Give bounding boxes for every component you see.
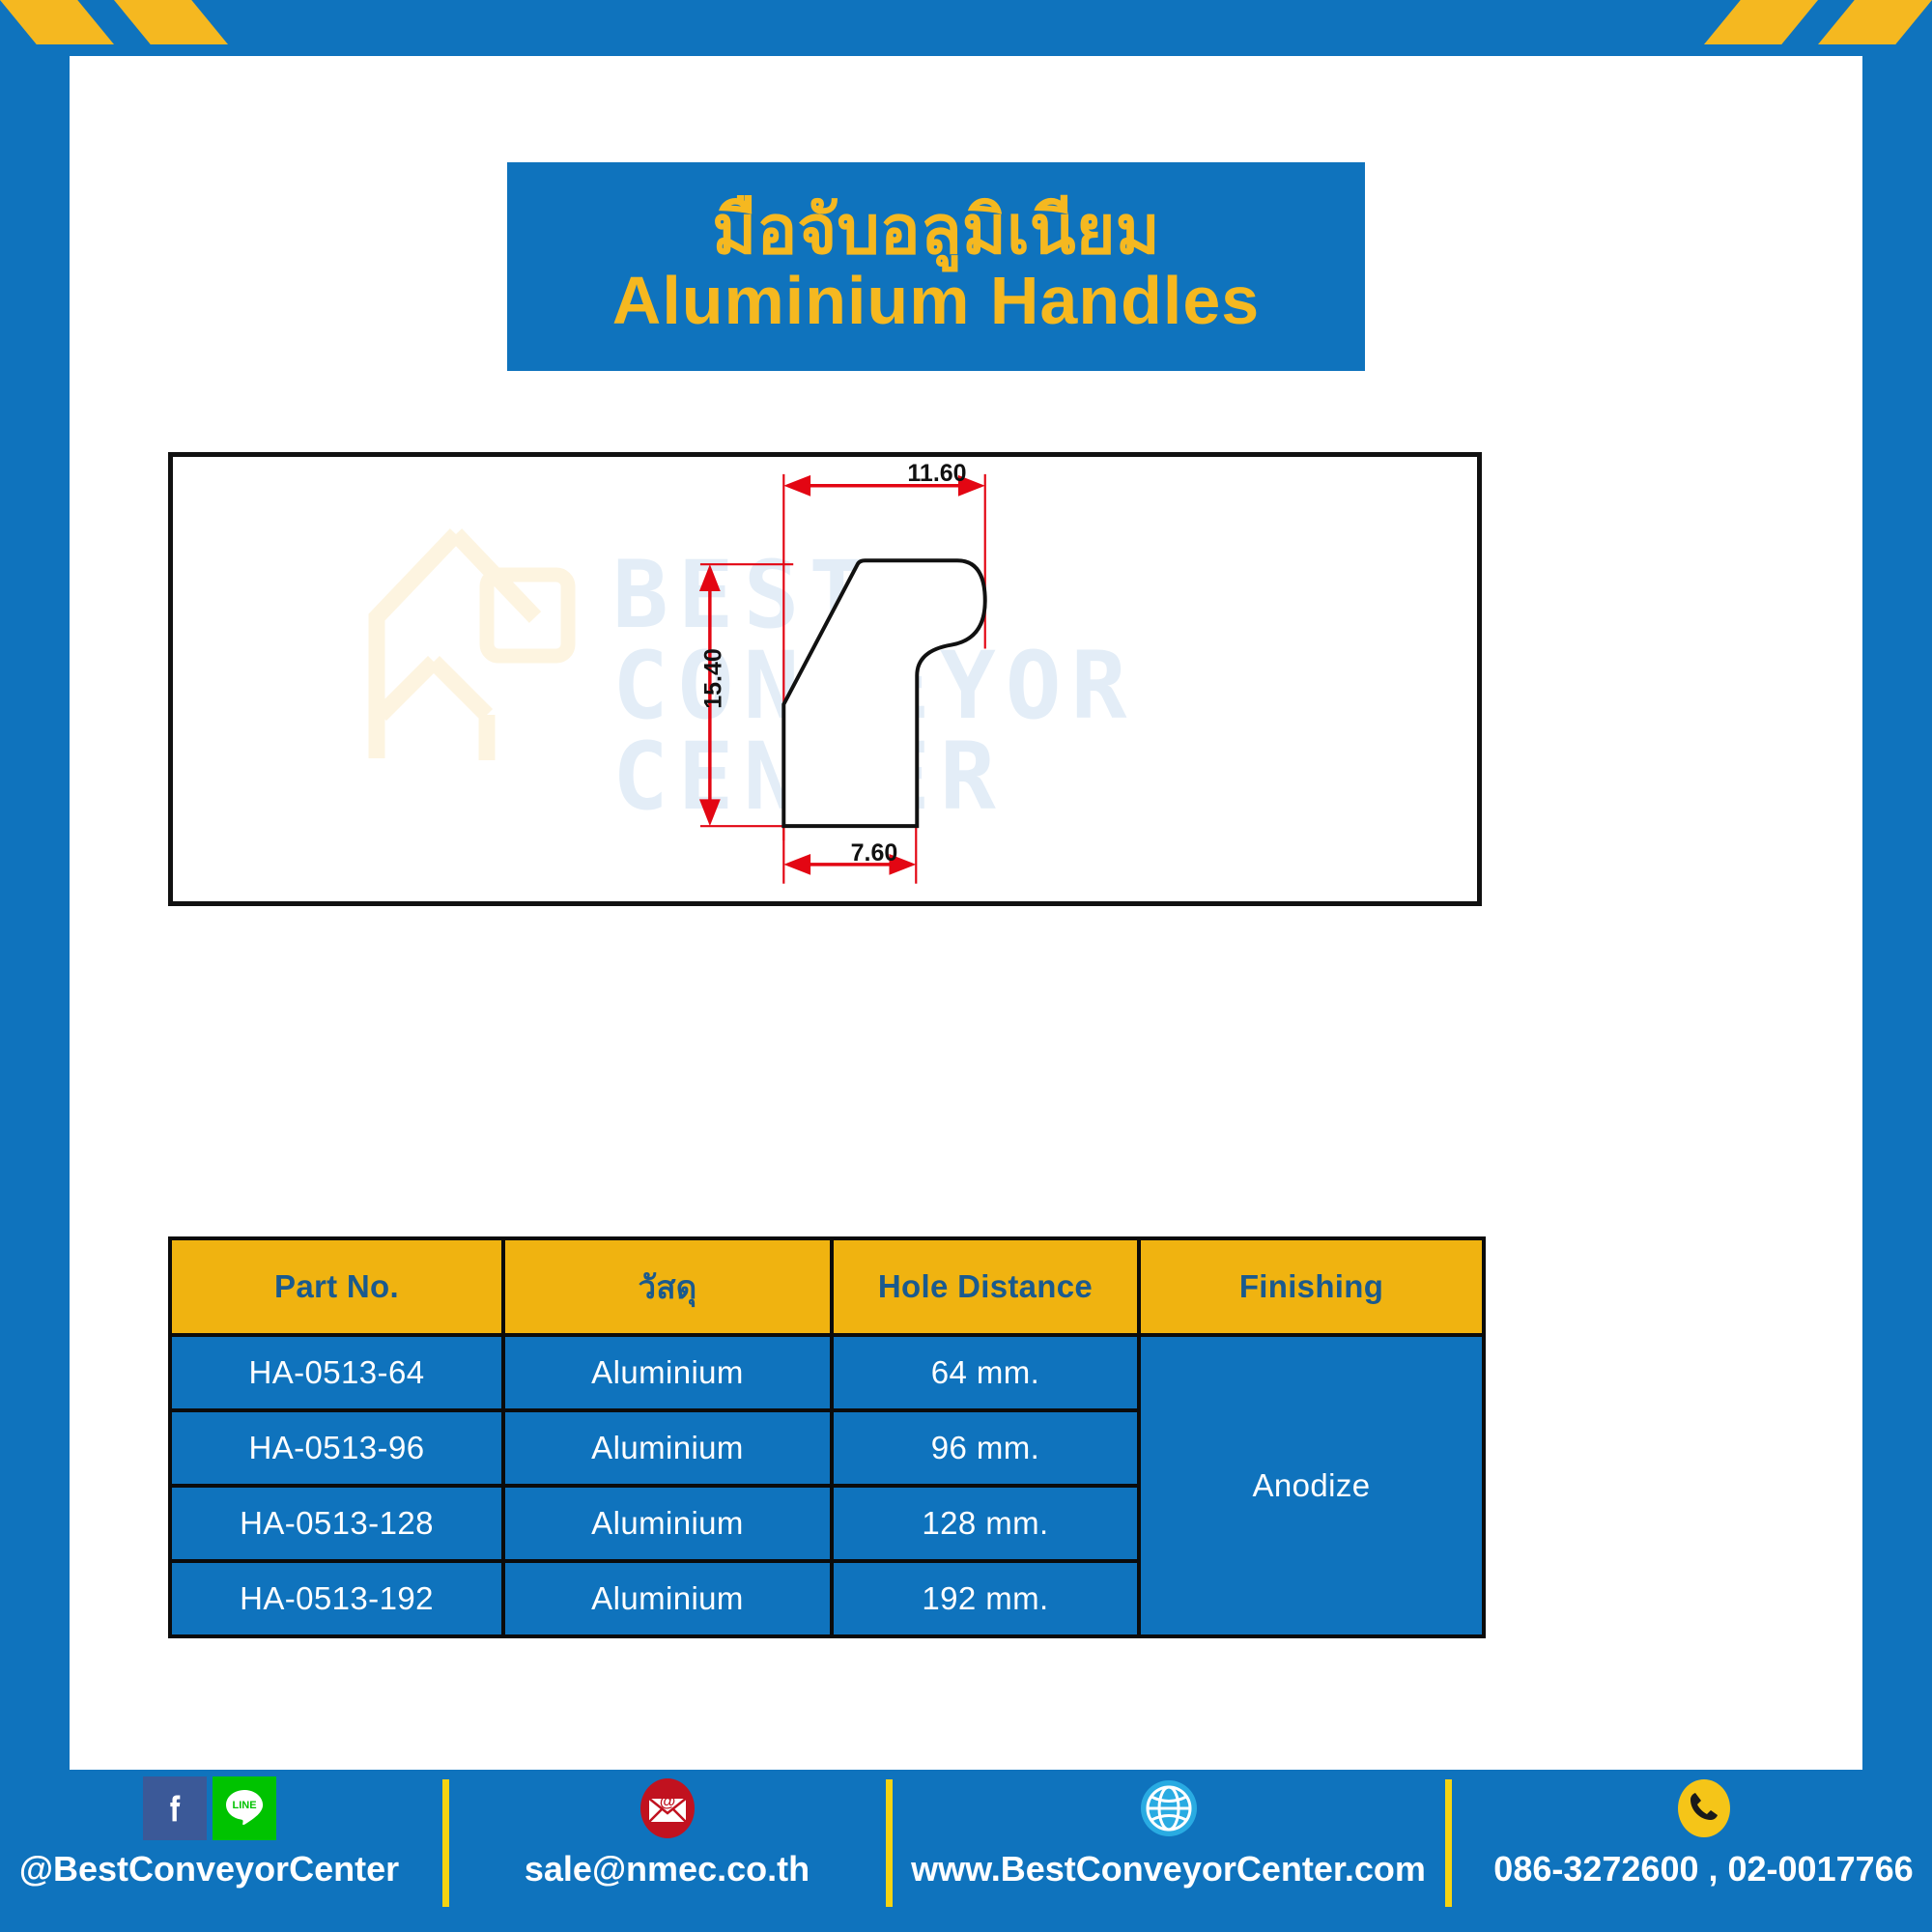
dim-arrow-left (783, 475, 810, 497)
footer-divider (442, 1779, 449, 1907)
dim-arrow-up (699, 564, 721, 591)
chevron-shape (0, 0, 114, 44)
phone-icon-wrap (1672, 1774, 1736, 1843)
cell-part-no: HA-0513-64 (170, 1335, 503, 1410)
dimension-label-width: 11.60 (836, 460, 1038, 488)
cell-hole-distance: 96 mm. (832, 1410, 1139, 1486)
contact-social[interactable]: LINE @BestConveyorCenter (2, 1770, 417, 1889)
handle-profile-outline (783, 560, 984, 826)
contact-email[interactable]: @ sale@nmec.co.th (474, 1770, 861, 1889)
cell-part-no: HA-0513-128 (170, 1486, 503, 1561)
social-handle-label: @BestConveyorCenter (19, 1849, 399, 1889)
technical-drawing-panel: BEST CONVEYOR CENTER (168, 452, 1482, 906)
globe-icon[interactable] (1137, 1776, 1201, 1840)
dimension-label-base: 7.60 (802, 839, 947, 867)
title-banner: มือจับอลูมิเนียม Aluminium Handles (507, 162, 1365, 371)
phone-label: 086-3272600 , 02-0017766 (1493, 1849, 1913, 1889)
specification-table: Part No. วัสดุ Hole Distance Finishing H… (168, 1236, 1486, 1638)
phone-icon[interactable] (1672, 1775, 1736, 1842)
facebook-icon[interactable] (143, 1776, 207, 1840)
globe-icon-wrap (1137, 1774, 1201, 1843)
page-root: มือจับอลูมิเนียม Aluminium Handles BEST … (0, 0, 1932, 1932)
cell-hole-distance: 192 mm. (832, 1561, 1139, 1636)
page-title-english: Aluminium Handles (612, 266, 1260, 337)
corner-chevrons-right (1704, 0, 1932, 44)
cell-part-no: HA-0513-96 (170, 1410, 503, 1486)
cell-material: Aluminium (503, 1561, 832, 1636)
footer-divider (1445, 1779, 1452, 1907)
footer-contact-bar: LINE @BestConveyorCenter @ sale@nmec.co.… (0, 1770, 1932, 1932)
line-icon[interactable]: LINE (213, 1776, 276, 1840)
cell-part-no: HA-0513-192 (170, 1561, 503, 1636)
svg-text:LINE: LINE (232, 1800, 256, 1811)
chevron-shape (114, 0, 228, 44)
cell-hole-distance: 128 mm. (832, 1486, 1139, 1561)
page-title-thai: มือจับอลูมิเนียม (712, 196, 1160, 264)
column-header-finishing: Finishing (1139, 1238, 1484, 1335)
contact-website[interactable]: www.BestConveyorCenter.com (918, 1770, 1420, 1889)
column-header-material: วัสดุ (503, 1238, 832, 1335)
column-header-hole-distance: Hole Distance (832, 1238, 1139, 1335)
website-label: www.BestConveyorCenter.com (911, 1849, 1426, 1889)
svg-text:@: @ (659, 1792, 675, 1810)
chevron-shape (1704, 0, 1818, 44)
cell-finishing: Anodize (1139, 1335, 1484, 1636)
cell-material: Aluminium (503, 1486, 832, 1561)
chevron-shape (1818, 0, 1932, 44)
footer-divider (886, 1779, 893, 1907)
contact-phone[interactable]: 086-3272600 , 02-0017766 (1477, 1770, 1931, 1889)
table-header-row: Part No. วัสดุ Hole Distance Finishing (170, 1238, 1484, 1335)
email-icon-wrap: @ (636, 1774, 699, 1843)
table-row: HA-0513-64 Aluminium 64 mm. Anodize (170, 1335, 1484, 1410)
cell-material: Aluminium (503, 1410, 832, 1486)
dimension-label-height: 15.40 (700, 621, 728, 737)
social-icons: LINE (143, 1774, 276, 1843)
email-icon[interactable]: @ (636, 1775, 699, 1842)
corner-chevrons-left (0, 0, 228, 44)
email-label: sale@nmec.co.th (525, 1849, 810, 1889)
dim-arrow-down (699, 799, 721, 826)
cell-hole-distance: 64 mm. (832, 1335, 1139, 1410)
cell-material: Aluminium (503, 1335, 832, 1410)
column-header-part-no: Part No. (170, 1238, 503, 1335)
content-card: มือจับอลูมิเนียม Aluminium Handles BEST … (70, 56, 1862, 1770)
